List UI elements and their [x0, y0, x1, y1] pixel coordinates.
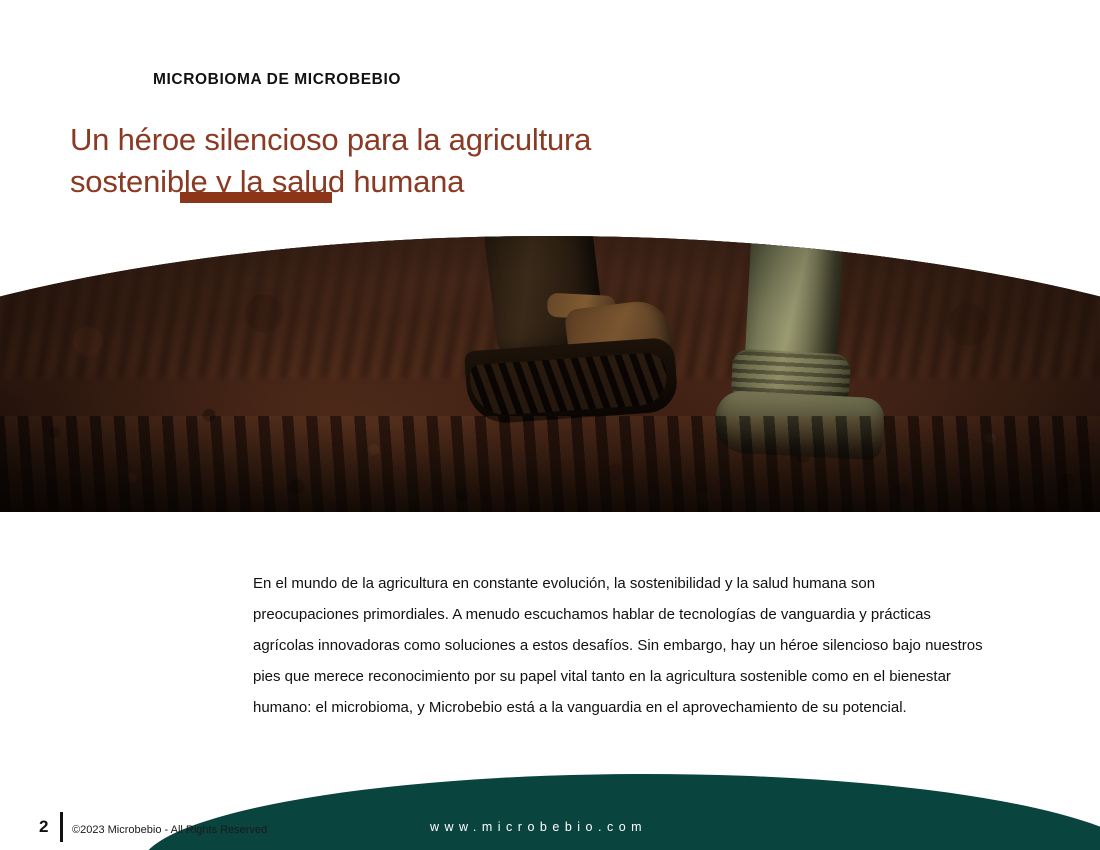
hero-vignette — [0, 228, 1100, 512]
copyright-text: ©2023 Microbebio - All Rights Reserved — [72, 824, 267, 836]
footer-divider — [60, 812, 63, 842]
footer-swoosh-shape — [140, 774, 1100, 850]
hero-image-clip — [0, 228, 1100, 512]
accent-bar — [180, 192, 332, 203]
page-title: Un héroe silencioso para la agricultura … — [70, 119, 770, 203]
page-title-line-1: Un héroe silencioso para la agricultura — [70, 119, 770, 161]
header: MICROBIOMA DE MICROBEBIO Un héroe silenc… — [0, 0, 1100, 225]
slide-page: MICROBIOMA DE MICROBEBIO Un héroe silenc… — [0, 0, 1100, 850]
page-number: 2 — [39, 817, 48, 837]
body-paragraph: En el mundo de la agricultura en constan… — [253, 568, 983, 723]
website-url[interactable]: www.microbebio.com — [430, 820, 647, 834]
footer: 2 ©2023 Microbebio - All Rights Reserved… — [0, 770, 1100, 850]
hero-image-section — [0, 228, 1100, 512]
hero-photo-soil-boots — [0, 228, 1100, 512]
page-title-line-2: sostenible y la salud humana — [70, 161, 770, 203]
eyebrow-label: MICROBIOMA DE MICROBEBIO — [153, 71, 401, 89]
